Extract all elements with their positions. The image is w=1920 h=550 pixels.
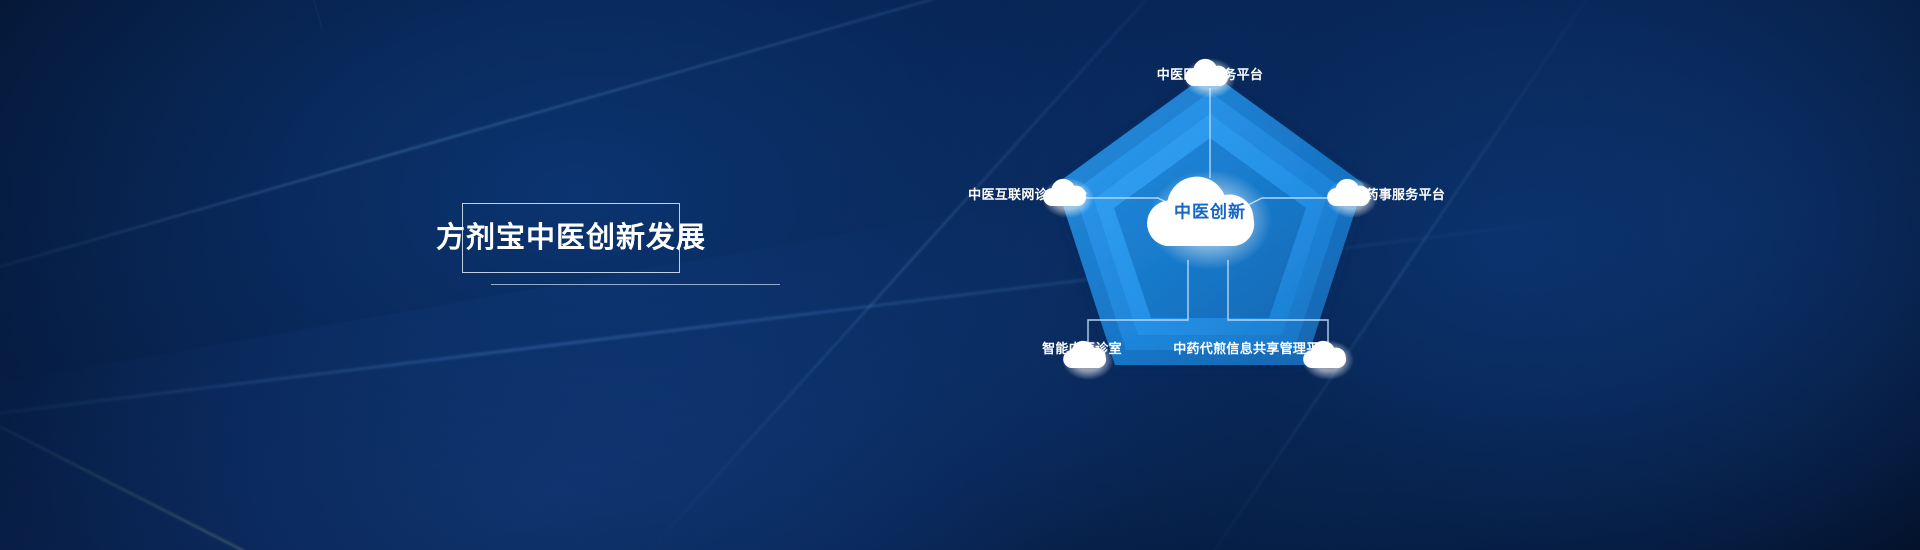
center-node-label: 中医创新 (1174, 198, 1246, 223)
node-label-left: 中医互联网诊疗平台 (968, 188, 1088, 201)
title-underline (491, 284, 780, 285)
title-box: 方剂宝中医创新发展 (462, 203, 680, 273)
background-arc-inner (0, 0, 467, 550)
node-label-bottom-right: 中药代煎信息共享管理平台 (1173, 342, 1333, 355)
promo-banner: 方剂宝中医创新发展 (0, 0, 1920, 550)
background-arc-mid (0, 0, 540, 550)
node-label-right: 中药药事服务平台 (1339, 188, 1445, 201)
pentagon-graphic (960, 30, 1460, 430)
node-label-top: 中医医疗服务平台 (1157, 68, 1263, 81)
pentagon-diagram: 中医医疗服务平台 中药药事服务平台 中药代煎信息共享管理平台 智能中医诊室 中医… (960, 30, 1460, 430)
node-label-bottom-left: 智能中医诊室 (1042, 342, 1122, 355)
headline-block: 方剂宝中医创新发展 (462, 203, 680, 285)
background-streak-gold (0, 395, 920, 550)
page-title: 方剂宝中医创新发展 (436, 224, 706, 253)
